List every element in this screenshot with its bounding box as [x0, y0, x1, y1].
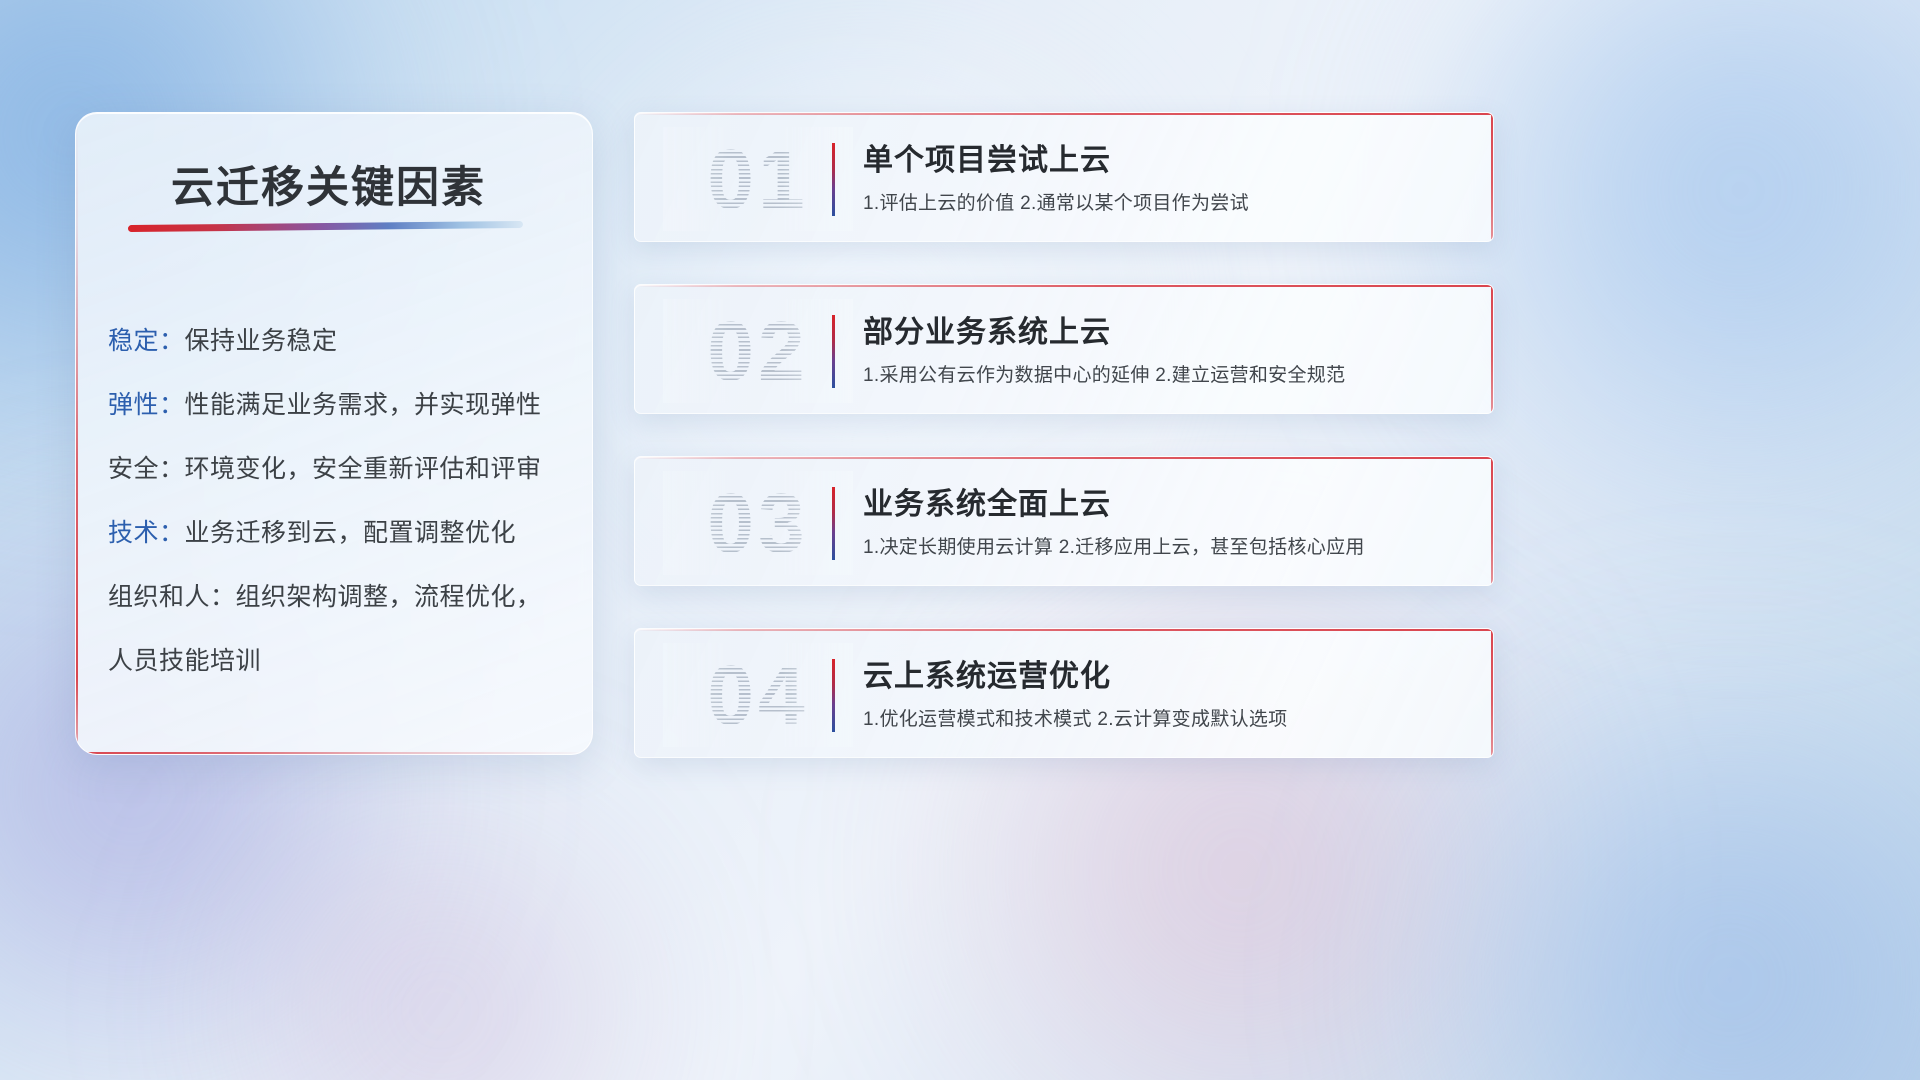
- stage-number-02: 02: [663, 299, 853, 403]
- stage-description: 1.评估上云的价值 2.通常以某个项目作为尝试: [863, 188, 1249, 215]
- stage-description: 1.采用公有云作为数据中心的延伸 2.建立运营和安全规范: [863, 360, 1345, 387]
- list-item-label: 稳定：: [108, 327, 185, 355]
- stage-accent-bar: [832, 143, 835, 216]
- stage-card-01[interactable]: 01 单个项目尝试上云 1.评估上云的价值 2.通常以某个项目作为尝试: [634, 112, 1494, 242]
- cloud-migration-stages: 01 单个项目尝试上云 1.评估上云的价值 2.通常以某个项目作为尝试 02 部…: [634, 112, 1494, 800]
- title-underline-gradient: [128, 221, 523, 232]
- list-item-label: 技术：: [108, 519, 185, 547]
- stage-title: 部分业务系统上云: [863, 307, 1111, 351]
- list-item-text: 保持业务稳定: [185, 327, 338, 355]
- stage-card-03[interactable]: 03 业务系统全面上云 1.决定长期使用云计算 2.迁移应用上云，甚至包括核心应…: [634, 456, 1494, 586]
- stage-number-04: 04: [663, 643, 853, 747]
- stage-accent-bar: [832, 659, 835, 732]
- list-item-label: 安全：: [108, 455, 185, 483]
- stage-description: 1.优化运营模式和技术模式 2.云计算变成默认选项: [863, 704, 1287, 731]
- list-item: 技术：业务迁移到云，配置调整优化: [108, 501, 572, 565]
- list-item: 稳定：保持业务稳定: [108, 309, 572, 373]
- list-item-text: 环境变化，安全重新评估和评审: [185, 455, 542, 483]
- key-factors-panel: 云迁移关键因素 稳定：保持业务稳定 弹性：性能满足业务需求，并实现弹性 安全：环…: [75, 112, 593, 755]
- stage-accent-bar: [832, 487, 835, 560]
- list-item: 人员技能培训: [108, 629, 572, 693]
- list-item-text: 业务迁移到云，配置调整优化: [185, 519, 517, 547]
- key-factors-list: 稳定：保持业务稳定 弹性：性能满足业务需求，并实现弹性 安全：环境变化，安全重新…: [108, 309, 572, 693]
- list-item: 组织和人：组织架构调整，流程优化，: [108, 565, 572, 629]
- list-item-text: 性能满足业务需求，并实现弹性: [185, 391, 542, 419]
- list-item: 安全：环境变化，安全重新评估和评审: [108, 437, 572, 501]
- list-item-text: 组织架构调整，流程优化，: [236, 583, 542, 611]
- stage-number-01: 01: [663, 127, 853, 231]
- stage-title: 云上系统运营优化: [863, 651, 1111, 695]
- list-item: 弹性：性能满足业务需求，并实现弹性: [108, 373, 572, 437]
- stage-number-03: 03: [663, 471, 853, 575]
- list-item-label: 组织和人：: [108, 583, 236, 611]
- list-item-label: 弹性：: [108, 391, 185, 419]
- panel-title: 云迁移关键因素: [171, 153, 486, 215]
- list-item-text: 人员技能培训: [108, 647, 261, 675]
- stage-card-02[interactable]: 02 部分业务系统上云 1.采用公有云作为数据中心的延伸 2.建立运营和安全规范: [634, 284, 1494, 414]
- slide-stage: 云迁移关键因素 稳定：保持业务稳定 弹性：性能满足业务需求，并实现弹性 安全：环…: [0, 0, 1920, 1080]
- stage-accent-bar: [832, 315, 835, 388]
- stage-card-04[interactable]: 04 云上系统运营优化 1.优化运营模式和技术模式 2.云计算变成默认选项: [634, 628, 1494, 758]
- stage-title: 业务系统全面上云: [863, 479, 1111, 523]
- stage-title: 单个项目尝试上云: [863, 135, 1111, 179]
- stage-description: 1.决定长期使用云计算 2.迁移应用上云，甚至包括核心应用: [863, 532, 1365, 559]
